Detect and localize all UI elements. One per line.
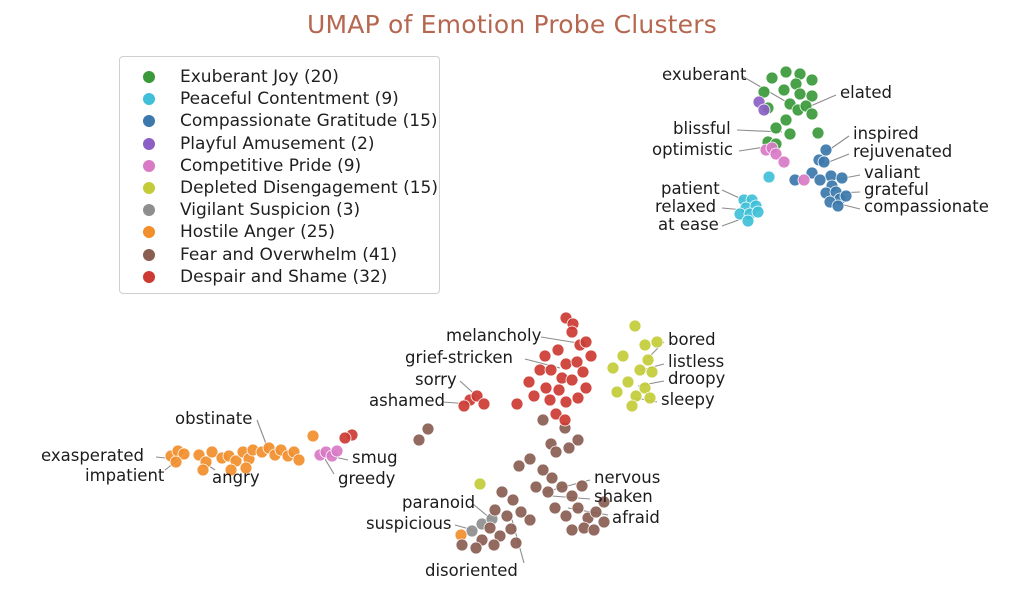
scatter-point [540, 382, 552, 394]
scatter-point [634, 364, 646, 376]
scatter-point [778, 156, 790, 168]
scatter-point [622, 376, 634, 388]
scatter-point [607, 362, 619, 374]
scatter-point [778, 84, 790, 96]
scatter-point [496, 486, 508, 498]
scatter-point [550, 446, 562, 458]
legend-swatch-icon [143, 71, 155, 83]
scatter-point [307, 430, 319, 442]
scatter-point [458, 400, 470, 412]
legend-swatch-icon [143, 160, 155, 172]
scatter-point [784, 128, 796, 140]
scatter-point [626, 400, 638, 412]
scatter-point [576, 480, 588, 492]
scatter-point [580, 382, 592, 394]
point-annotation-label: afraid [612, 510, 660, 527]
scatter-point [549, 502, 561, 514]
scatter-point [763, 171, 775, 183]
point-annotation-label: obstinate [175, 411, 252, 428]
scatter-point [642, 354, 654, 366]
scatter-point [478, 398, 490, 410]
scatter-point [553, 384, 565, 396]
scatter-point [293, 454, 305, 466]
point-annotation-label: smug [352, 450, 398, 467]
legend-item-label: Compassionate Gratitude (15) [180, 111, 438, 131]
point-annotation-label: grief-stricken [405, 350, 513, 367]
scatter-point [413, 434, 425, 446]
point-annotation-label: exasperated [41, 448, 144, 465]
point-annotation-label: bored [668, 332, 716, 349]
scatter-point [798, 174, 810, 186]
legend-item-label: Competitive Pride (9) [180, 156, 361, 176]
scatter-point [560, 396, 572, 408]
legend-item[interactable]: Playful Amusement (2) [120, 133, 439, 155]
scatter-point [489, 504, 501, 516]
scatter-point [598, 516, 610, 528]
scatter-point [546, 472, 558, 484]
scatter-point [552, 344, 564, 356]
point-annotation-label: impatient [85, 468, 164, 485]
scatter-point [780, 66, 792, 78]
scatter-point [806, 108, 818, 120]
scatter-point [566, 490, 578, 502]
point-annotation-label: nervous [594, 470, 660, 487]
scatter-point [534, 364, 546, 376]
scatter-point [646, 366, 658, 378]
point-annotation-label: sorry [415, 372, 457, 389]
scatter-point [832, 200, 844, 212]
point-annotation-label: greedy [338, 471, 395, 488]
scatter-point [794, 88, 806, 100]
scatter-point [840, 190, 852, 202]
scatter-point [577, 366, 589, 378]
legend-swatch-icon [143, 249, 155, 261]
legend-swatch-icon [143, 271, 155, 283]
legend-item-label: Fear and Overwhelm (41) [180, 245, 397, 265]
scatter-point [563, 442, 575, 454]
scatter-point [820, 144, 832, 156]
legend-item-label: Playful Amusement (2) [180, 134, 375, 154]
scatter-point [766, 72, 778, 84]
scatter-point [560, 510, 572, 522]
point-annotation-label: compassionate [864, 199, 989, 216]
scatter-point [758, 104, 770, 116]
legend-item[interactable]: Hostile Anger (25) [120, 221, 439, 243]
point-annotation-label: angry [212, 470, 260, 487]
scatter-point [644, 392, 656, 404]
point-annotation-label: disoriented [425, 563, 518, 580]
point-annotation-label: at ease [658, 217, 719, 234]
point-annotation-label: rejuvenated [853, 144, 952, 161]
legend-item[interactable]: Depleted Disengagement (15) [120, 177, 439, 199]
point-annotation-label: exuberant [662, 67, 747, 84]
point-annotation-label: paranoid [402, 495, 475, 512]
scatter-point [651, 336, 663, 348]
scatter-point [585, 350, 597, 362]
legend-item-label: Vigilant Suspicion (3) [180, 200, 360, 220]
point-annotation-label: patient [661, 181, 720, 198]
scatter-point [836, 172, 848, 184]
scatter-point [170, 456, 182, 468]
scatter-point [510, 537, 522, 549]
scatter-point [588, 524, 600, 536]
scatter-point [545, 364, 557, 376]
legend-item-label: Despair and Shame (32) [180, 267, 387, 287]
point-annotation-label: suspicious [366, 516, 452, 533]
scatter-point [806, 74, 818, 86]
scatter-point [742, 215, 754, 227]
legend-swatch-icon [143, 93, 155, 105]
scatter-point [780, 114, 792, 126]
legend-item[interactable]: Competitive Pride (9) [120, 155, 439, 177]
point-annotation-label: optimistic [652, 142, 733, 159]
scatter-point [611, 386, 623, 398]
scatter-point [507, 494, 519, 506]
scatter-point [814, 174, 826, 186]
point-annotation-label: relaxed [655, 199, 716, 216]
scatter-point [617, 350, 629, 362]
scatter-point [466, 525, 478, 537]
scatter-point [544, 394, 556, 406]
legend-item-label: Depleted Disengagement (15) [180, 178, 438, 198]
scatter-point [524, 453, 536, 465]
scatter-point [528, 390, 540, 402]
scatter-point [484, 522, 496, 534]
scatter-point [331, 445, 343, 457]
scatter-point [422, 423, 434, 435]
scatter-point [542, 486, 554, 498]
scatter-point [470, 542, 482, 554]
point-annotation-label: blissful [673, 121, 731, 138]
legend-item[interactable]: Compassionate Gratitude (15) [120, 110, 439, 132]
scatter-point [560, 358, 572, 370]
scatter-point [539, 350, 551, 362]
legend-item[interactable]: Peaceful Contentment (9) [120, 88, 439, 110]
legend[interactable]: Exuberant Joy (20)Peaceful Contentment (… [119, 56, 440, 294]
scatter-point [770, 122, 782, 134]
point-annotation-label: sleepy [661, 392, 715, 409]
legend-item-label: Hostile Anger (25) [180, 222, 335, 242]
scatter-point [566, 374, 578, 386]
legend-swatch-icon [143, 115, 155, 127]
scatter-point [590, 506, 602, 518]
scatter-point [524, 514, 536, 526]
scatter-point [523, 376, 535, 388]
scatter-point [505, 523, 517, 535]
scatter-point [501, 510, 513, 522]
scatter-point [556, 481, 568, 493]
scatter-point [197, 464, 209, 476]
scatter-point [812, 127, 824, 139]
legend-item[interactable]: Fear and Overwhelm (41) [120, 244, 439, 266]
point-annotation-label: shaken [594, 489, 653, 506]
scatter-point [456, 539, 468, 551]
legend-item[interactable]: Exuberant Joy (20) [120, 66, 439, 88]
chart-page: UMAP of Emotion Probe Clusters exuberant… [0, 0, 1024, 592]
scatter-point [639, 339, 651, 351]
scatter-point [474, 478, 486, 490]
scatter-point [339, 432, 351, 444]
scatter-point [530, 481, 542, 493]
scatter-point [566, 326, 578, 338]
scatter-point [580, 336, 592, 348]
legend-swatch-icon [143, 138, 155, 150]
point-annotation-label: inspired [853, 126, 919, 143]
point-annotation-label: melancholy [446, 328, 541, 345]
scatter-point [572, 502, 584, 514]
point-annotation-label: droopy [668, 371, 725, 388]
scatter-point [559, 414, 571, 426]
scatter-point [566, 524, 578, 536]
legend-swatch-icon [143, 182, 155, 194]
legend-item-label: Exuberant Joy (20) [180, 67, 339, 87]
legend-item-label: Peaceful Contentment (9) [180, 89, 399, 109]
legend-swatch-icon [143, 204, 155, 216]
legend-item[interactable]: Despair and Shame (32) [120, 266, 439, 288]
legend-swatch-icon [143, 226, 155, 238]
scatter-point [572, 392, 584, 404]
scatter-point [752, 206, 764, 218]
legend-item[interactable]: Vigilant Suspicion (3) [120, 199, 439, 221]
scatter-point [513, 460, 525, 472]
scatter-point [537, 414, 549, 426]
scatter-point [818, 156, 830, 168]
scatter-point [511, 398, 523, 410]
point-annotation-label: ashamed [369, 393, 445, 410]
scatter-point [488, 539, 500, 551]
scatter-point [629, 320, 641, 332]
point-annotation-label: elated [840, 85, 892, 102]
